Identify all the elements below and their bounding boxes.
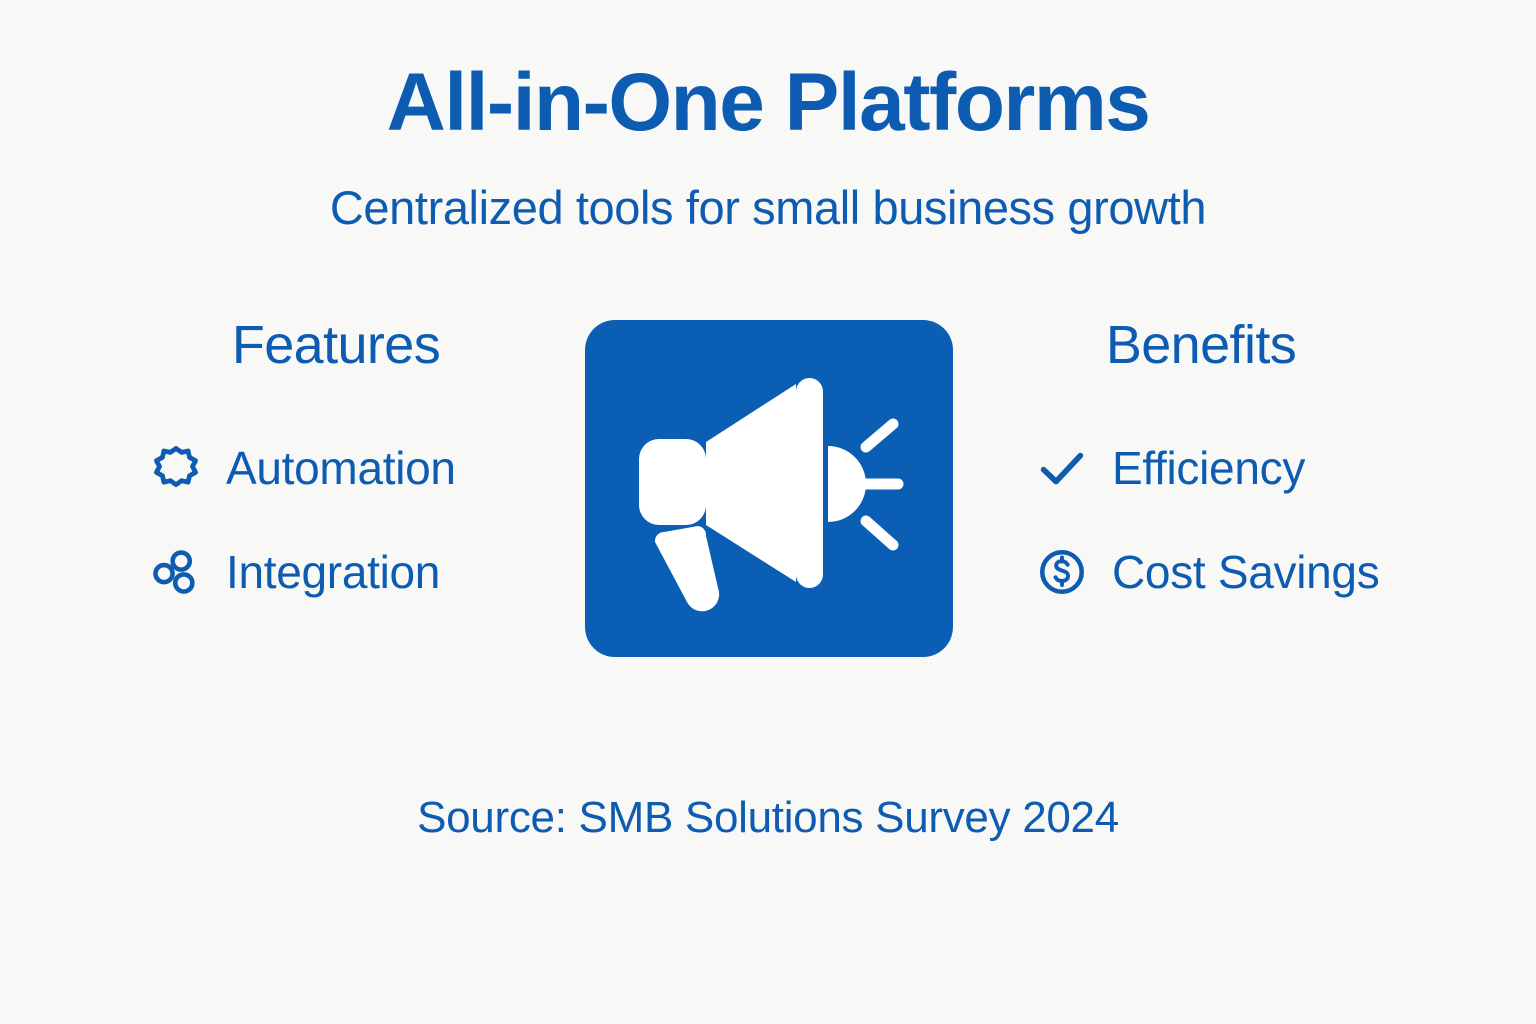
page-title: All-in-One Platforms [0,62,1536,144]
megaphone-icon-card [585,320,953,657]
feature-item-automation[interactable]: Automation [148,436,456,500]
megaphone-icon [585,320,953,657]
benefit-label-efficiency: Efficiency [1112,445,1305,491]
page-subtitle: Centralized tools for small business gro… [0,184,1536,231]
features-column-heading: Features [136,318,536,372]
check-icon [1034,440,1090,496]
infographic-slide: All-in-One Platforms Centralized tools f… [0,0,1536,1024]
benefit-item-efficiency[interactable]: Efficiency [1034,436,1305,500]
feature-label-integration: Integration [226,549,440,595]
feature-label-automation: Automation [226,445,456,491]
gear-icon [148,440,204,496]
source-caption: Source: SMB Solutions Survey 2024 [0,796,1536,840]
benefit-label-cost-savings: Cost Savings [1112,549,1379,595]
dollar-circle-icon [1034,544,1090,600]
integration-nodes-icon [148,544,204,600]
benefit-item-cost-savings[interactable]: Cost Savings [1034,540,1379,604]
benefits-column-heading: Benefits [1001,318,1401,372]
feature-item-integration[interactable]: Integration [148,540,440,604]
